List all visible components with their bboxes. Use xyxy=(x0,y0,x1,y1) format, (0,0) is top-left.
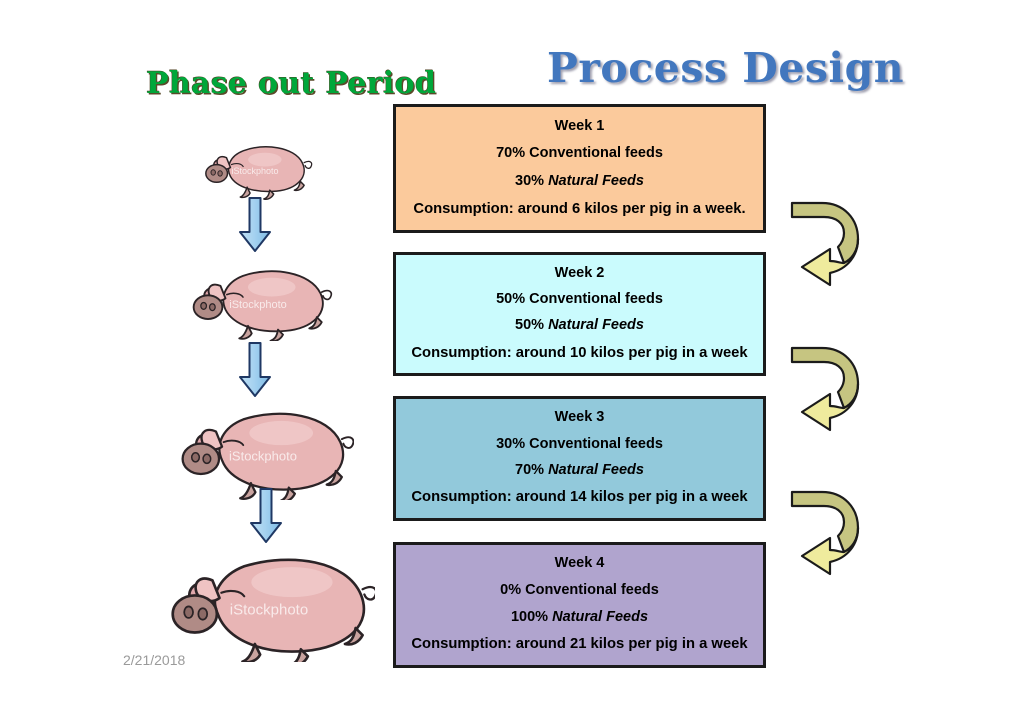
pig-illustration-week-1: iStockphoto xyxy=(196,138,314,200)
date-stamp: 2/21/2018 xyxy=(123,652,185,668)
week-1-natural-label: Natural Feeds xyxy=(548,173,644,189)
week-4-natural-label: Natural Feeds xyxy=(552,609,648,625)
week-4-natural-pct: 100% xyxy=(511,609,552,625)
pig-illustration-week-4: iStockphoto xyxy=(163,550,375,662)
week-3-natural: 70% Natural Feeds xyxy=(400,463,759,479)
week-3-box: Week 3 30% Conventional feeds 70% Natura… xyxy=(393,396,766,521)
week-2-natural: 50% Natural Feeds xyxy=(400,318,759,334)
pig-illustration-week-3: iStockphoto xyxy=(172,404,354,500)
week-1-natural-pct: 30% xyxy=(515,173,548,189)
week-1-box: Week 1 70% Conventional feeds 30% Natura… xyxy=(393,104,766,233)
pig-illustration-week-2: iStockphoto xyxy=(183,262,333,341)
week-2-consumption: Consumption: around 10 kilos per pig in … xyxy=(400,345,759,361)
week-1-conventional: 70% Conventional feeds xyxy=(400,146,759,162)
week-4-box: Week 4 0% Conventional feeds 100% Natura… xyxy=(393,542,766,668)
week-2-natural-pct: 50% xyxy=(515,317,548,333)
curved-arrow-icon-2 xyxy=(778,334,874,452)
week-4-conventional: 0% Conventional feeds xyxy=(400,583,759,599)
arrow-down-icon-3 xyxy=(248,487,284,545)
week-2-box: Week 2 50% Conventional feeds 50% Natura… xyxy=(393,252,766,376)
week-3-natural-pct: 70% xyxy=(515,462,548,478)
curved-arrow-icon-3 xyxy=(778,478,874,596)
week-1-natural: 30% Natural Feeds xyxy=(400,174,759,190)
week-4-consumption: Consumption: around 21 kilos per pig in … xyxy=(400,636,759,652)
week-2-title: Week 2 xyxy=(400,266,759,282)
week-3-conventional: 30% Conventional feeds xyxy=(400,437,759,453)
week-2-natural-label: Natural Feeds xyxy=(548,317,644,333)
week-3-consumption: Consumption: around 14 kilos per pig in … xyxy=(400,489,759,505)
week-3-natural-label: Natural Feeds xyxy=(548,462,644,478)
week-3-title: Week 3 xyxy=(400,410,759,426)
week-2-conventional: 50% Conventional feeds xyxy=(400,292,759,308)
week-4-natural: 100% Natural Feeds xyxy=(400,610,759,626)
arrow-down-icon-2 xyxy=(237,341,273,399)
arrow-down-icon-1 xyxy=(237,196,273,254)
curved-arrow-icon-1 xyxy=(778,189,874,307)
page-title-phase-out-period: Phase out Period xyxy=(146,66,436,101)
week-4-title: Week 4 xyxy=(400,556,759,572)
week-1-consumption: Consumption: around 6 kilos per pig in a… xyxy=(400,201,759,217)
page-title-process-design: Process Design xyxy=(547,44,904,92)
week-1-title: Week 1 xyxy=(400,119,759,135)
